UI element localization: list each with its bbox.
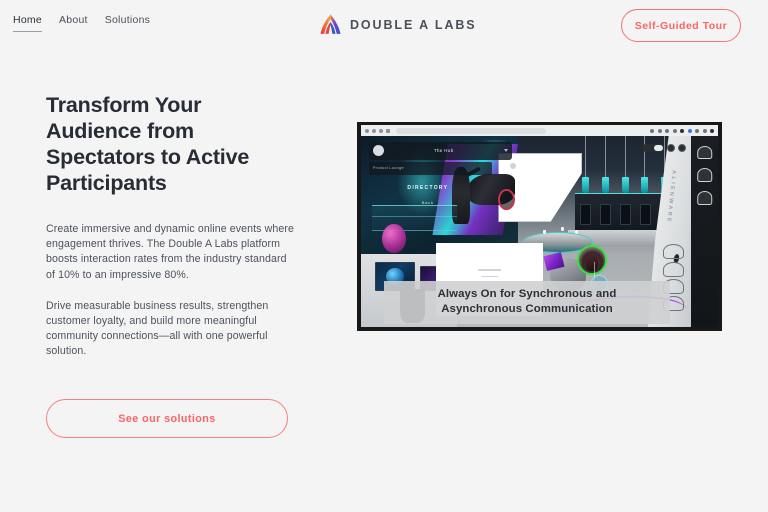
browser-chrome-bar: [361, 125, 718, 136]
brand-logo[interactable]: DOUBLE A LABS: [318, 12, 477, 37]
scene-view-toggle[interactable]: [642, 144, 664, 152]
scene-camera-button[interactable]: [678, 144, 686, 152]
extension-icon[interactable]: [680, 129, 684, 133]
star-icon[interactable]: [673, 129, 677, 133]
nav-item-home[interactable]: Home: [13, 14, 42, 32]
scene-mic-button[interactable]: [667, 144, 675, 152]
browser-window: DIRECTORY Back PUSH BOUNDARIES The Hub P…: [361, 125, 718, 327]
double-a-logo-icon: [318, 12, 343, 37]
headset-icon: [697, 146, 713, 159]
scene-magenta-orb: [382, 224, 405, 253]
hero-content: Transform Your Audience from Spectators …: [46, 92, 308, 360]
scene-room-subtitle: Product Lounge: [373, 166, 404, 170]
brand-name: DOUBLE A LABS: [350, 18, 477, 32]
site-header: Home About Solutions DOUBLE: [0, 0, 768, 52]
reload-icon[interactable]: [379, 129, 383, 133]
scene-directory-label[interactable]: DIRECTORY: [407, 185, 448, 191]
scene-hud-subbar[interactable]: Product Lounge: [369, 162, 492, 175]
menu-icon[interactable]: [710, 129, 714, 133]
headset-icon: [697, 168, 713, 181]
hero-media-frame: DIRECTORY Back PUSH BOUNDARIES The Hub P…: [357, 122, 722, 331]
browser-toolbar-icons: [650, 125, 714, 136]
mic-icon[interactable]: [658, 129, 662, 133]
self-guided-tour-button[interactable]: Self-Guided Tour: [621, 9, 741, 42]
scene-lamp: [602, 136, 609, 193]
page-title: Transform Your Audience from Spectators …: [46, 92, 278, 196]
see-our-solutions-button[interactable]: See our solutions: [46, 399, 288, 438]
back-arrow-icon[interactable]: [365, 129, 369, 133]
scene-lamp: [622, 136, 629, 193]
scene-hud-status-dot: [510, 163, 516, 169]
scene-hud-bar[interactable]: The Hub: [369, 142, 512, 160]
profile-avatar-icon[interactable]: [688, 129, 692, 133]
download-icon[interactable]: [703, 129, 707, 133]
scene-hud-top-right: [642, 144, 686, 152]
lock-icon: [386, 129, 390, 133]
scene-back-label[interactable]: Back: [422, 200, 434, 205]
media-caption-line-1: Always On for Synchronous and: [388, 287, 666, 302]
nav-item-solutions[interactable]: Solutions: [105, 14, 150, 31]
scene-cup: [575, 230, 578, 234]
tab-list-icon[interactable]: [695, 129, 699, 133]
share-icon[interactable]: [650, 129, 654, 133]
virtual-venue-scene[interactable]: DIRECTORY Back PUSH BOUNDARIES The Hub P…: [361, 136, 718, 327]
scene-headset-rack: [691, 136, 718, 327]
scene-hud-panel: The Hub Product Lounge: [369, 142, 512, 180]
media-caption-line-2: Asynchronous Communication: [388, 302, 666, 317]
scene-lamp: [582, 136, 589, 193]
hero-paragraph-2: Drive measurable business results, stren…: [46, 299, 294, 360]
scene-live-video-avatar[interactable]: [577, 245, 607, 275]
scene-motorcycle-wheel: [498, 189, 514, 210]
headset-icon: [697, 191, 713, 204]
headset-icon: [663, 244, 685, 259]
forward-arrow-icon[interactable]: [372, 129, 376, 133]
scene-room-title: The Hub: [388, 148, 500, 153]
main-nav: Home About Solutions: [13, 14, 150, 32]
address-bar[interactable]: [396, 128, 546, 134]
chevron-down-icon[interactable]: [504, 149, 508, 152]
hero-paragraph-1: Create immersive and dynamic online even…: [46, 222, 294, 283]
media-caption: Always On for Synchronous and Asynchrono…: [384, 281, 670, 324]
nav-item-about[interactable]: About: [59, 14, 88, 31]
scene-info-card-line: [481, 276, 498, 277]
scene-cup: [543, 230, 546, 234]
scene-info-card-line: [478, 269, 502, 271]
scene-cup: [561, 227, 564, 231]
headset-icon: [663, 262, 685, 277]
scene-user-avatar-icon[interactable]: [373, 145, 384, 156]
screen-share-icon[interactable]: [665, 129, 669, 133]
